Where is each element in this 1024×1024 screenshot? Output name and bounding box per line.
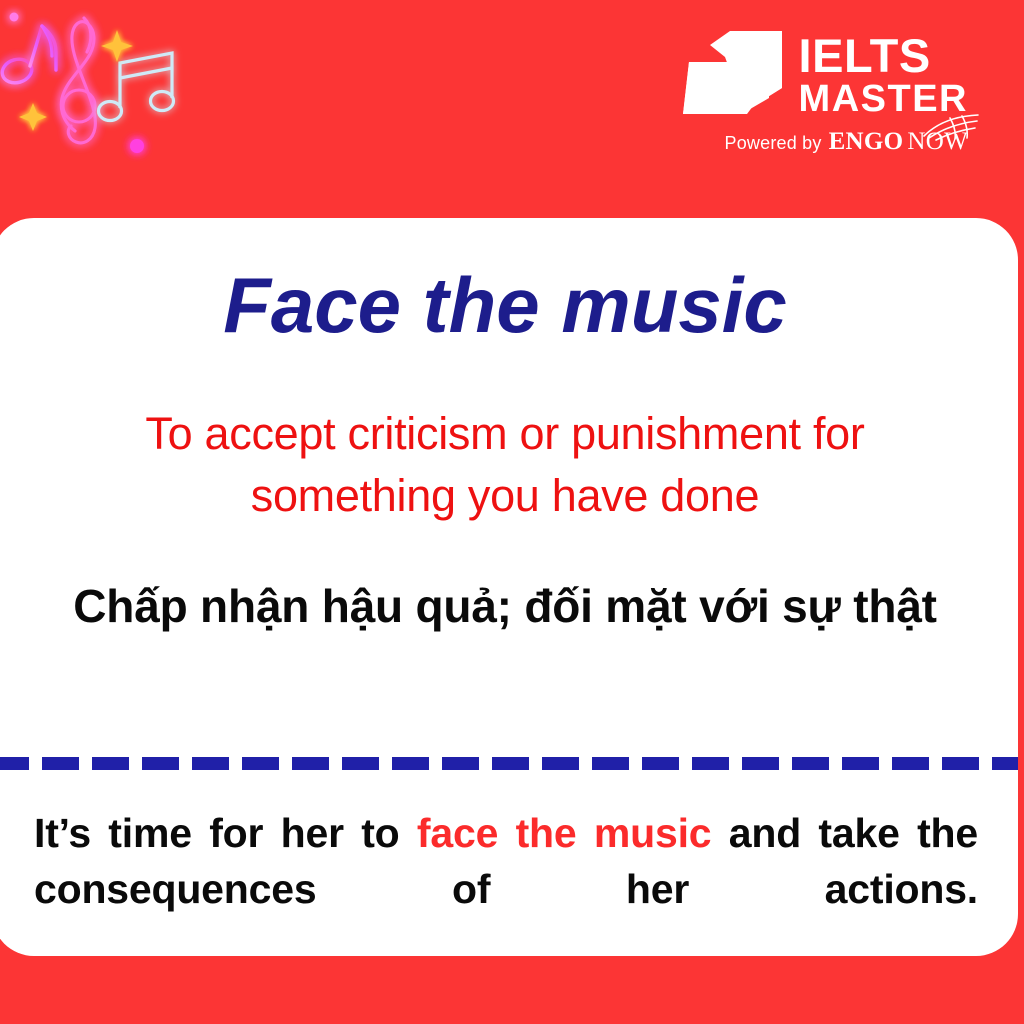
glow-dot-icon	[130, 139, 144, 153]
swoosh-flourish-icon	[920, 112, 982, 142]
idiom-definition: To accept criticism or punishment for so…	[77, 403, 933, 527]
brand-name-ielts: IELTS	[799, 32, 931, 80]
dashed-divider-track	[0, 757, 1018, 770]
stacked-folder-icon	[681, 28, 785, 116]
music-decoration-group	[0, 0, 210, 175]
example-sentence: It’s time for her to face the music and …	[34, 806, 978, 956]
powered-by-label: Powered by	[725, 133, 822, 154]
card-upper-section: Face the music To accept criticism or pu…	[0, 218, 1018, 758]
sparkle-star-icon	[19, 103, 47, 131]
engonow-bold-part: ENGO	[829, 128, 904, 156]
example-sentence-highlight: face the music	[417, 810, 711, 856]
eighth-note-icon	[0, 26, 56, 86]
example-sentence-before: It’s time for her to	[34, 810, 417, 856]
idiom-title: Face the music	[0, 266, 1018, 344]
brand-wordmark: IELTS MASTER	[799, 28, 968, 119]
treble-clef-icon	[61, 18, 95, 143]
content-card: Face the music To accept criticism or pu…	[0, 218, 1018, 956]
brand-logo: IELTS MASTER Powered by ENGO NOW	[718, 28, 968, 163]
music-decor-svg	[0, 0, 210, 175]
glow-dot-icon	[10, 13, 19, 22]
poster-canvas: IELTS MASTER Powered by ENGO NOW Face th…	[0, 0, 1024, 1024]
powered-by-row: Powered by ENGO NOW	[718, 128, 968, 156]
beamed-eighth-notes-icon	[99, 53, 174, 121]
sparkle-star-icon	[101, 30, 133, 62]
dashed-divider	[0, 755, 1018, 771]
idiom-translation-vietnamese: Chấp nhận hậu quả; đối mặt với sự thật	[22, 578, 988, 636]
brand-mark-row: IELTS MASTER	[718, 28, 968, 120]
